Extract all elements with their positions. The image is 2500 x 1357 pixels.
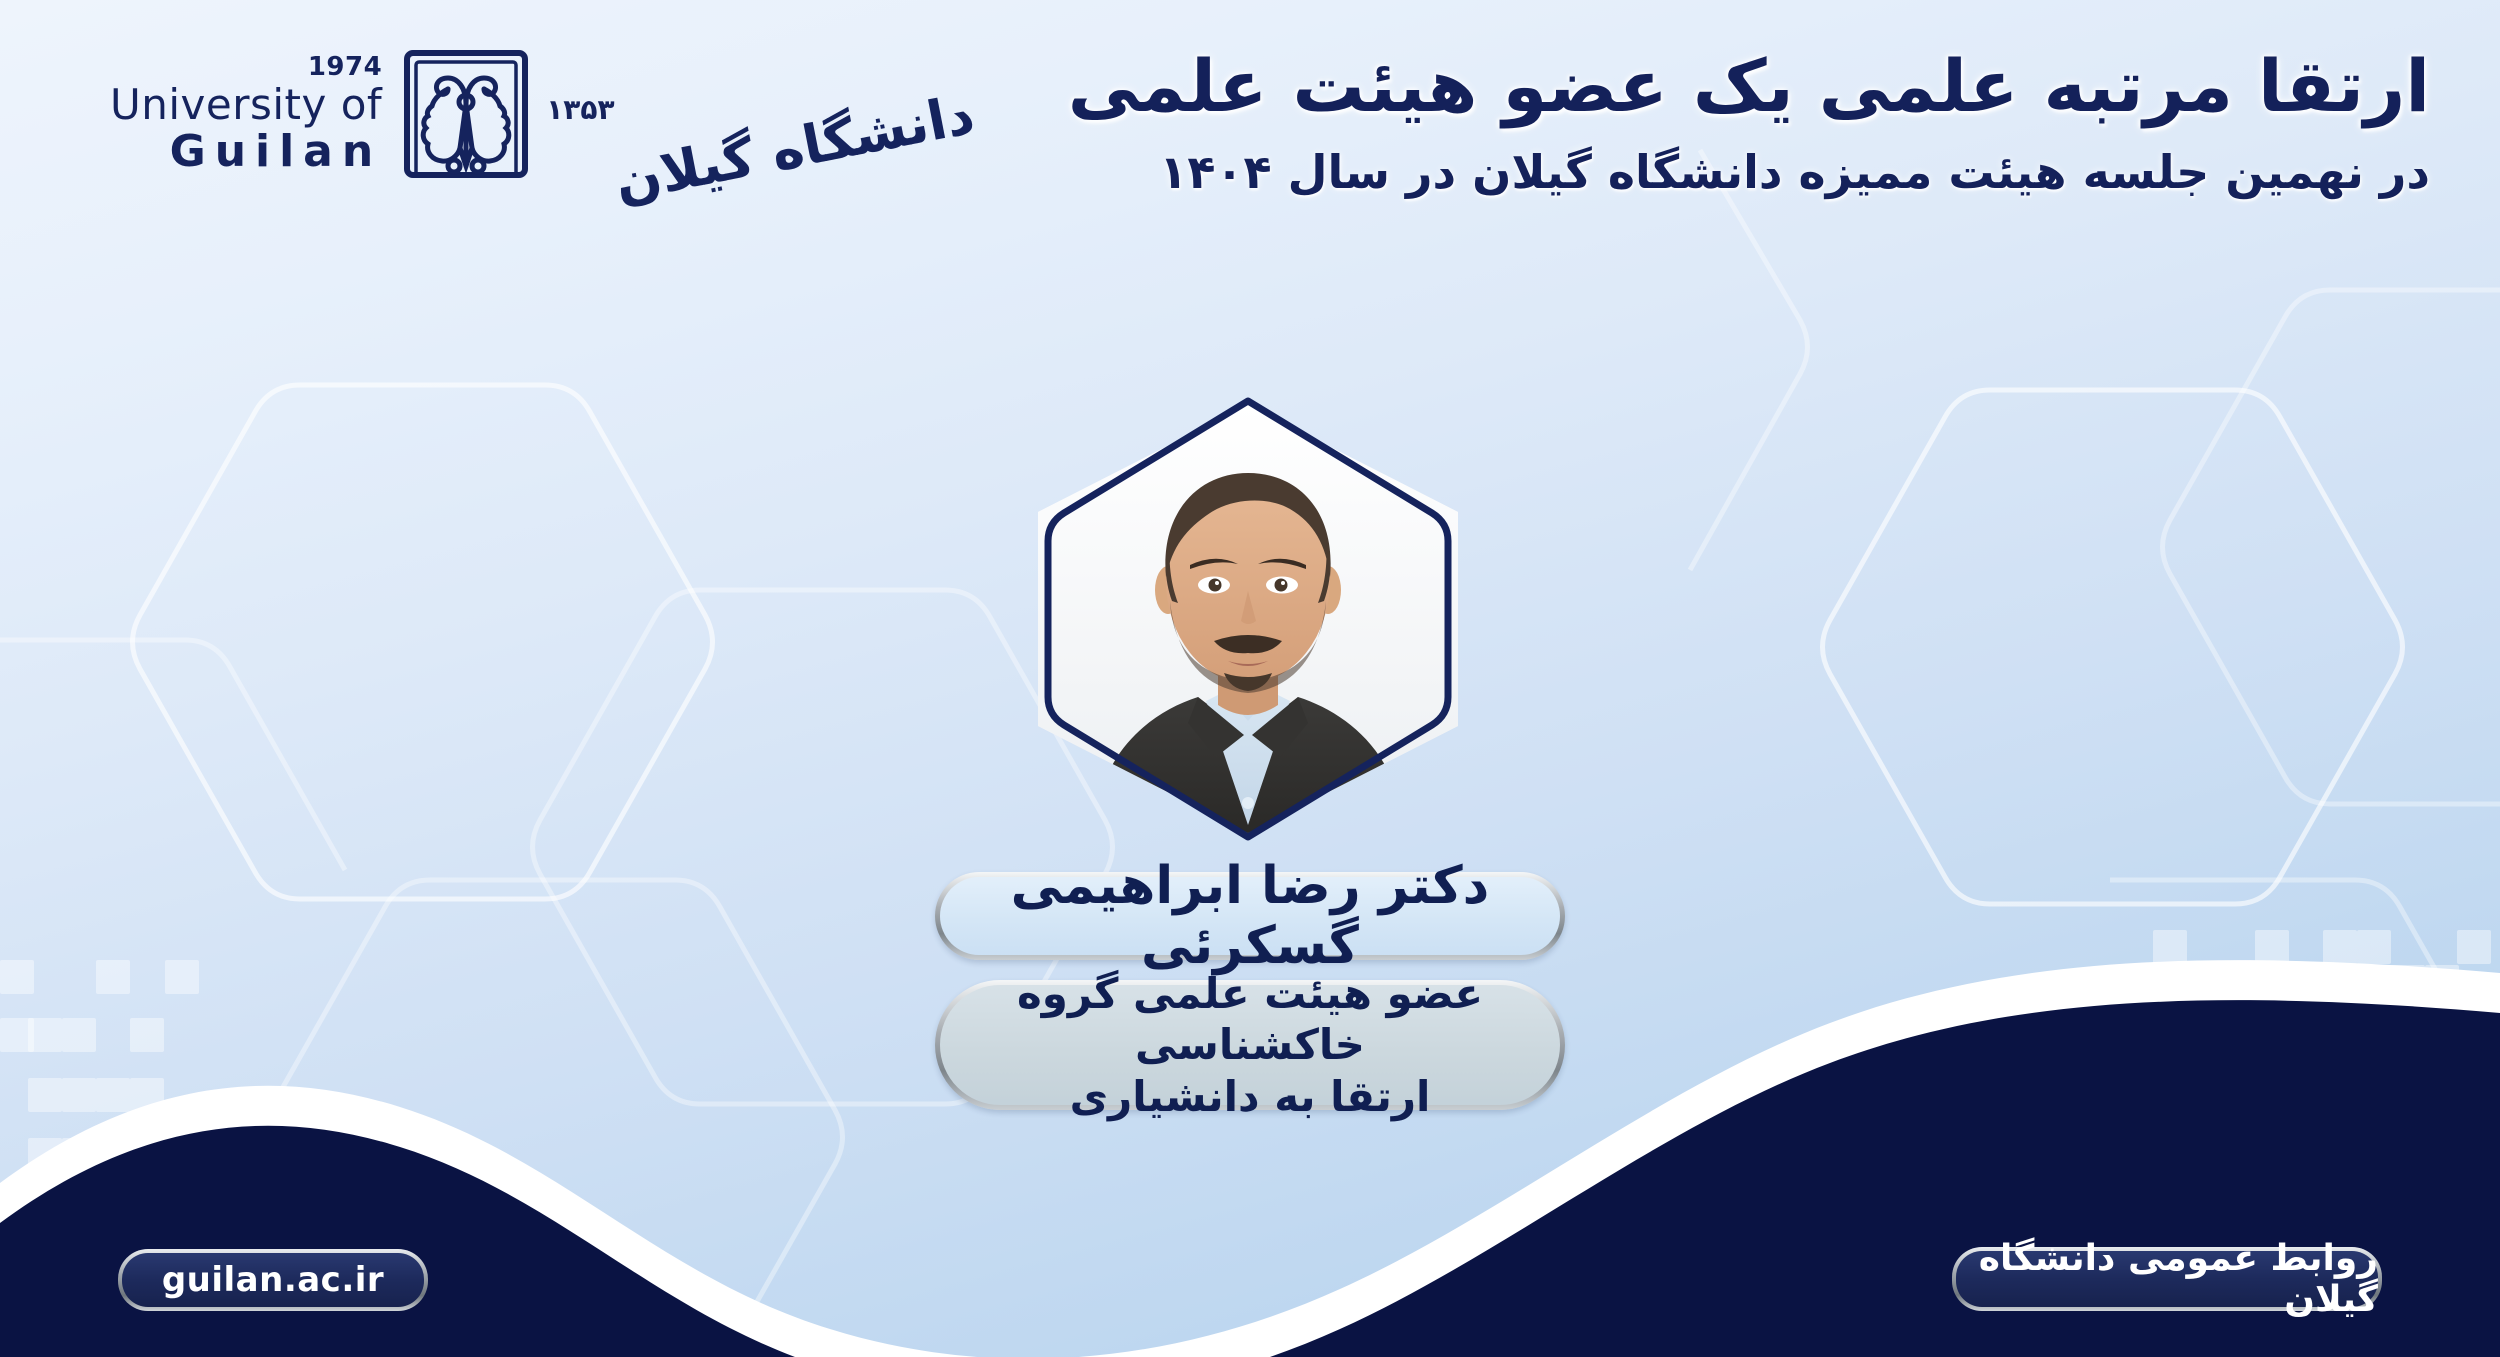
guilan-butterfly-emblem-icon — [402, 48, 530, 180]
poster-root: .hexline { fill:none; stroke:rgba(255,25… — [0, 0, 2500, 1357]
logo-year-fa: ۱۳۵۳ — [546, 93, 614, 126]
logo-university-label: University of — [110, 84, 382, 126]
public-relations-label: روابط عمومی دانشگاه گیلان — [1956, 1238, 2378, 1320]
logo-name-en: Guilan — [170, 130, 383, 174]
page-subtitle: در نهمین جلسه هیئت ممیزه دانشگاه گیلان د… — [1068, 145, 2430, 200]
person-name-badge: دکتر رضا ابراهیمی گسکرئی — [935, 872, 1565, 960]
logo-english-block: 1974 University of Guilan — [110, 54, 396, 174]
header-titles: ارتقا مرتبه علمی یک عضو هیئت علمی در نهم… — [1068, 44, 2430, 200]
website-url: guilan.ac.ir — [162, 1260, 384, 1300]
public-relations-chip: روابط عمومی دانشگاه گیلان — [1952, 1247, 2382, 1311]
person-role-line2: ارتقا به دانشیاری — [1070, 1071, 1431, 1122]
website-chip[interactable]: guilan.ac.ir — [118, 1249, 428, 1311]
pixel-squares-left-decoration — [0, 960, 420, 1260]
university-logo: دانشگاه گیلان ۱۳۵۳ — [110, 48, 973, 180]
person-role-badge: عضو هیئت علمی گروه خاکشناسی ارتقا به دان… — [935, 980, 1565, 1110]
logo-year-en: 1974 — [308, 54, 382, 80]
page-title: ارتقا مرتبه علمی یک عضو هیئت علمی — [1068, 44, 2430, 129]
pixel-squares-right-decoration — [2145, 930, 2500, 1220]
logo-persian-block: دانشگاه گیلان ۱۳۵۳ — [536, 87, 973, 141]
portrait-frame — [1028, 395, 1468, 843]
poster-header: دانشگاه گیلان ۱۳۵۳ — [0, 0, 2500, 300]
portrait-hexagon-outline — [1028, 395, 1468, 843]
person-role-line1: عضو هیئت علمی گروه خاکشناسی — [964, 968, 1536, 1070]
logo-name-fa: دانشگاه گیلان — [610, 87, 978, 210]
person-name: دکتر رضا ابراهیمی گسکرئی — [940, 856, 1560, 976]
